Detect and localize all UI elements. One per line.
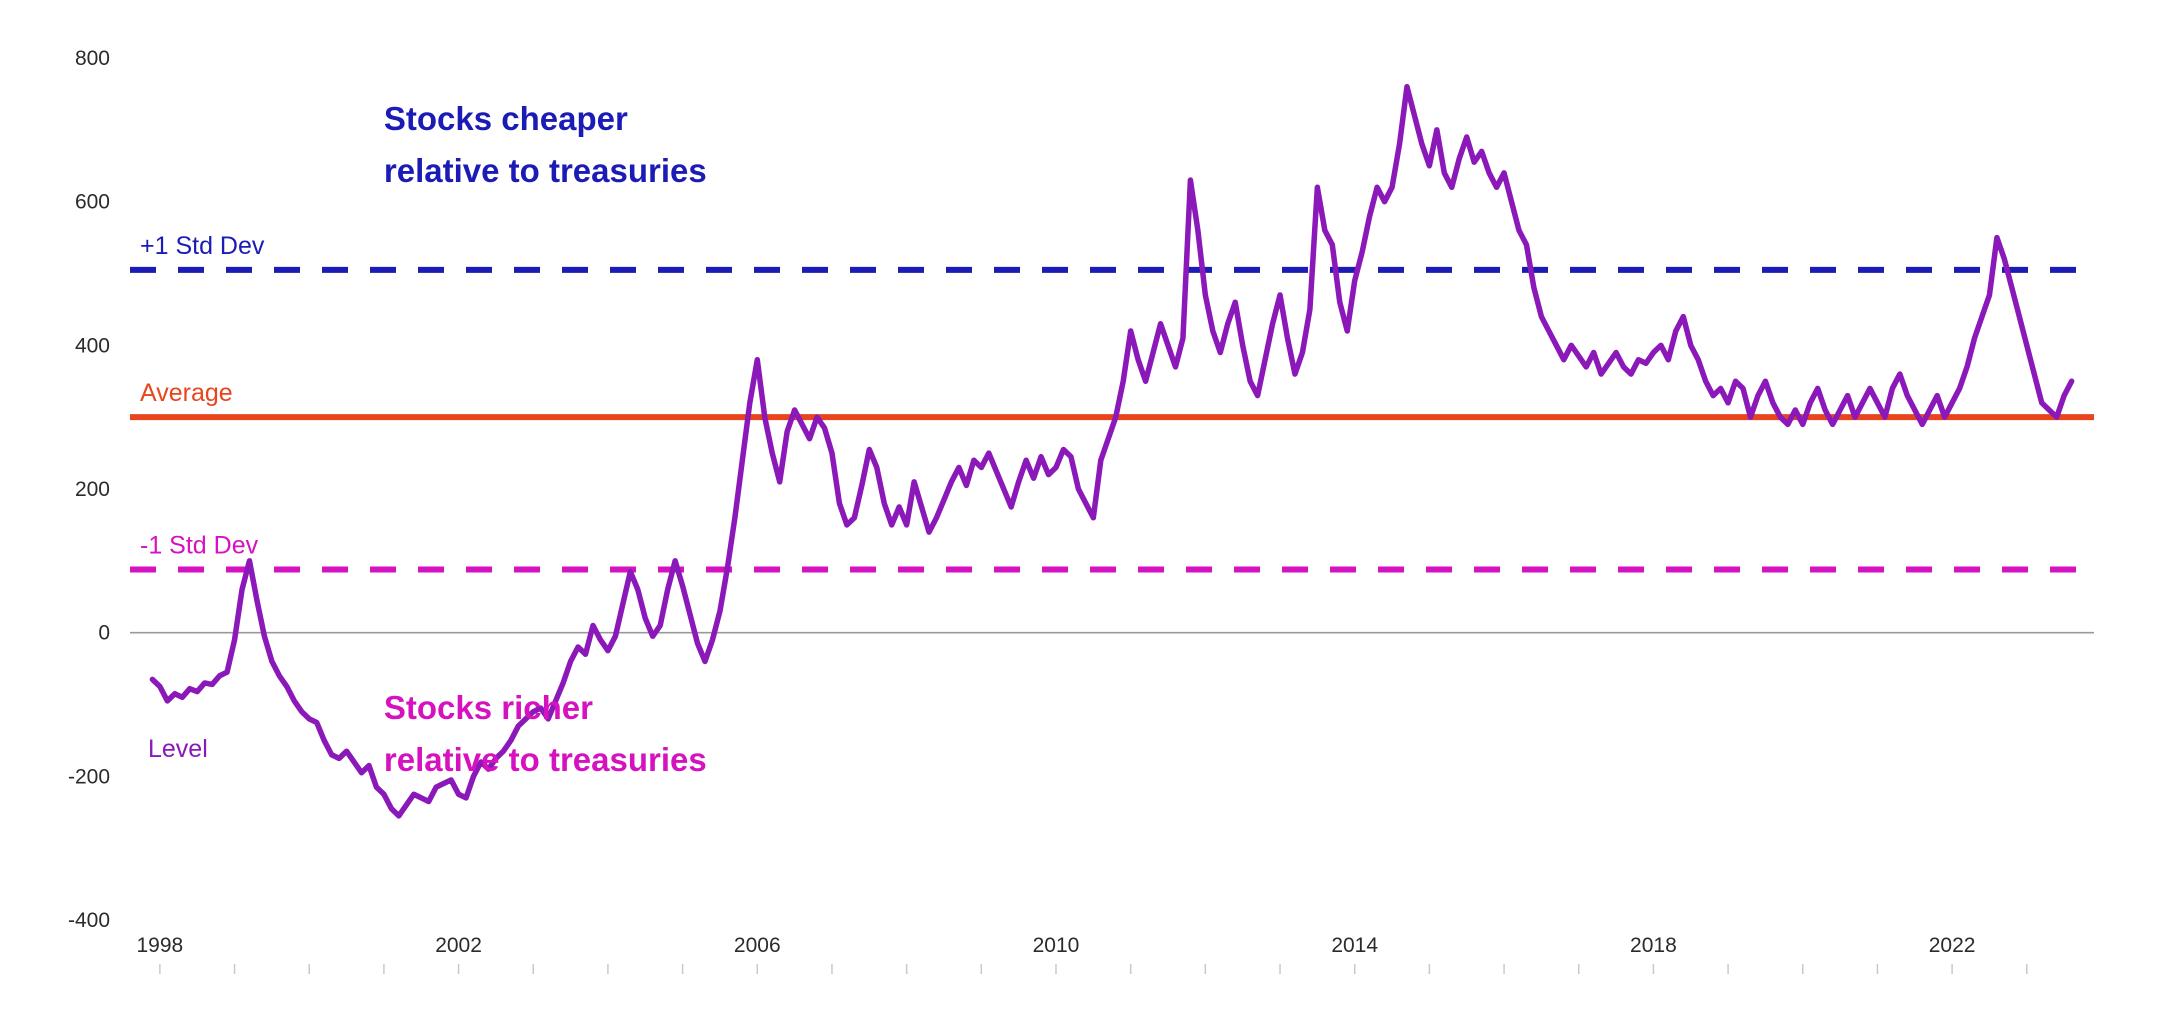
stocks-cheaper-annotation-line-2: relative to treasuries [384, 152, 707, 189]
equity-risk-premium-chart: 8006004002000-200-400 199820022006201020… [0, 0, 2160, 1022]
x-tick-label: 2018 [1630, 934, 1677, 957]
x-tick-label: 2006 [734, 934, 781, 957]
x-tick-label: 2014 [1331, 934, 1378, 957]
y-axis-ticks: 8006004002000-200-400 [68, 47, 110, 932]
x-axis-ticks: 1998200220062010201420182022 [137, 934, 1976, 957]
reference-line-label-plus-one-std-dev: +1 Std Dev [140, 232, 265, 260]
series-label: Level [148, 735, 208, 763]
x-axis-minor-ticks [160, 964, 2027, 974]
chart-annotations: Stocks cheaperrelative to treasuriesStoc… [384, 100, 707, 778]
x-tick-label: 2010 [1033, 934, 1080, 957]
series-inline-label: Level [148, 735, 208, 763]
reference-line-label-average: Average [140, 379, 233, 407]
chart-container: 8006004002000-200-400 199820022006201020… [0, 0, 2160, 1022]
reference-line-labels: +1 Std DevAverage-1 Std Dev [140, 232, 265, 560]
y-tick-label: -400 [68, 909, 110, 932]
y-tick-label: 800 [75, 47, 110, 70]
x-tick-label: 2022 [1929, 934, 1976, 957]
y-tick-label: 600 [75, 191, 110, 214]
reference-line-label-minus-one-std-dev: -1 Std Dev [140, 531, 259, 559]
y-tick-label: 400 [75, 334, 110, 357]
y-tick-label: 200 [75, 478, 110, 501]
y-tick-label: 0 [98, 622, 110, 645]
y-tick-label: -200 [68, 765, 110, 788]
stocks-cheaper-annotation-line-1: Stocks cheaper [384, 100, 628, 137]
x-tick-label: 2002 [435, 934, 482, 957]
x-tick-label: 1998 [137, 934, 184, 957]
stocks-richer-annotation-line-1: Stocks richer [384, 689, 593, 726]
stocks-richer-annotation-line-2: relative to treasuries [384, 741, 707, 778]
